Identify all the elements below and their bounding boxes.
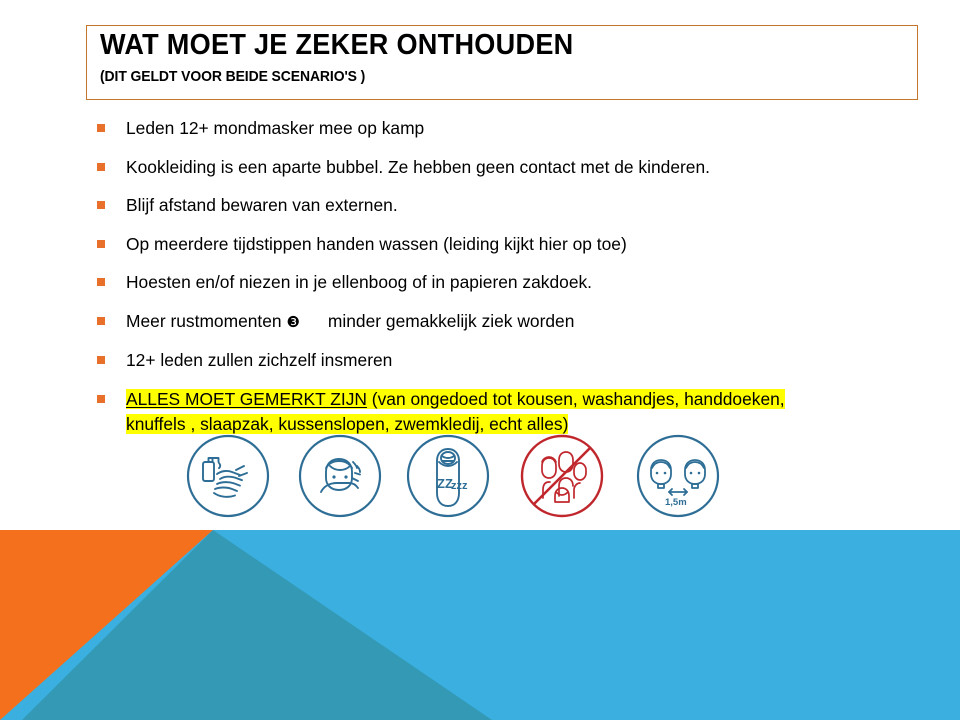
list-item: Blijf afstand bewaren van externen. bbox=[95, 193, 895, 218]
icon-row: ZZ zzz bbox=[180, 432, 780, 520]
circled-arrow-icon: ❸ bbox=[286, 310, 299, 335]
list-item: Leden 12+ mondmasker mee op kamp bbox=[95, 116, 895, 141]
slide-canvas: WAT MOET JE ZEKER ONTHOUDEN (DIT GELDT V… bbox=[0, 0, 960, 720]
page-title: WAT MOET JE ZEKER ONTHOUDEN bbox=[100, 29, 574, 62]
list-item-text: 12+ leden zullen zichzelf insmeren bbox=[126, 350, 392, 370]
list-item-text: Leden 12+ mondmasker mee op kamp bbox=[126, 118, 424, 138]
list-item-text: Hoesten en/of niezen in je ellenboog of … bbox=[126, 272, 592, 292]
footer-decoration bbox=[0, 530, 960, 720]
no-group-contact-icon bbox=[518, 432, 606, 520]
list-item-highlighted: ALLES MOET GEMERKT ZIJN (van ongedoed to… bbox=[95, 387, 895, 437]
bullet-marker-icon bbox=[97, 278, 105, 286]
list-item-text: Op meerdere tijdstippen handen wassen (l… bbox=[126, 234, 627, 254]
bullet-list: Leden 12+ mondmasker mee op kamp Kooklei… bbox=[95, 116, 895, 437]
bullet-marker-icon bbox=[97, 317, 105, 325]
list-item-text: Blijf afstand bewaren van externen. bbox=[126, 195, 398, 215]
keep-distance-icon: 1,5m bbox=[634, 432, 722, 520]
bullet-marker-icon bbox=[97, 201, 105, 209]
bullet-marker-icon bbox=[97, 356, 105, 364]
svg-text:1,5m: 1,5m bbox=[665, 497, 687, 508]
bullet-marker-icon bbox=[97, 395, 105, 403]
list-item-text-post: minder gemakkelijk ziek worden bbox=[328, 311, 574, 331]
list-item: Meer rustmomenten ❸minder gemakkelijk zi… bbox=[95, 309, 895, 335]
list-item: Op meerdere tijdstippen handen wassen (l… bbox=[95, 232, 895, 257]
list-item-text: Kookleiding is een aparte bubbel. Ze heb… bbox=[126, 157, 710, 177]
list-item-emphasis: ALLES MOET GEMERKT ZIJN bbox=[126, 389, 367, 409]
bullet-marker-icon bbox=[97, 163, 105, 171]
sleeping-bag-icon: ZZ zzz bbox=[404, 432, 492, 520]
list-item-text: (van ongedoed tot kousen, washandjes, ha… bbox=[367, 389, 785, 409]
title-box: WAT MOET JE ZEKER ONTHOUDEN (DIT GELDT V… bbox=[86, 25, 918, 100]
list-item: Hoesten en/of niezen in je ellenboog of … bbox=[95, 270, 895, 295]
svg-text:zzz: zzz bbox=[451, 480, 468, 492]
page-subtitle: (DIT GELDT VOOR BEIDE SCENARIO'S ) bbox=[100, 68, 365, 85]
cough-in-elbow-icon bbox=[296, 432, 384, 520]
list-item: 12+ leden zullen zichzelf insmeren bbox=[95, 348, 895, 373]
hand-washing-icon bbox=[184, 432, 272, 520]
bullet-marker-icon bbox=[97, 240, 105, 248]
list-item: Kookleiding is een aparte bubbel. Ze heb… bbox=[95, 155, 895, 180]
list-item-text-pre: Meer rustmomenten bbox=[126, 311, 282, 331]
bullet-marker-icon bbox=[97, 124, 105, 132]
list-item-text-line2: knuffels , slaapzak, kussenslopen, zwemk… bbox=[126, 414, 568, 434]
